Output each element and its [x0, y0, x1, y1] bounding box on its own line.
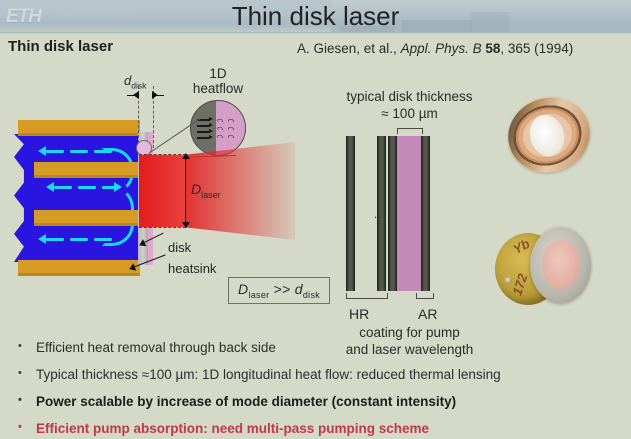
citation-authors: A. Giesen, et al., — [297, 41, 401, 56]
disk-thickness-title-line2: ≈ 100 µm — [322, 105, 497, 122]
heatflow-caption-line1: 1D — [178, 66, 258, 81]
coating-caption-line1: coating for pump — [322, 324, 497, 341]
d-disk-caliper-arrow — [152, 91, 158, 99]
heatsink-fin — [34, 162, 140, 178]
heatsink-label: heatsink — [168, 261, 216, 276]
beam-boundary-dash — [139, 154, 186, 155]
d-disk-caliper-arrow — [133, 91, 139, 99]
inequality-rhs: d — [295, 281, 303, 297]
ar-coating-bar — [421, 136, 430, 291]
heatflow-caption-line2: heatflow — [178, 81, 258, 96]
laser-mode-core — [139, 155, 185, 227]
d-laser-dimension-line — [185, 155, 186, 227]
hr-brace — [346, 293, 388, 299]
heat-flow-arrow — [197, 137, 210, 139]
heatflow-magnifier — [190, 100, 246, 156]
heatsink-fin — [18, 120, 140, 136]
flow-arrow-seg — [46, 150, 64, 153]
inequality-lhs: D — [238, 281, 248, 297]
flow-arrow-seg — [46, 238, 64, 241]
thickness-brace — [397, 128, 423, 134]
d-disk-subscript: disk — [131, 81, 146, 91]
mount-ring — [530, 227, 591, 303]
handwriting-mark: Yb — [510, 236, 532, 257]
inequality-lhs-sub: laser — [248, 290, 269, 300]
ar-brace — [416, 293, 434, 299]
d-laser-arrow-head — [182, 222, 190, 228]
handwriting-mark: 172 — [509, 272, 530, 297]
citation-volume: 58 — [485, 41, 500, 56]
citation-reference: A. Giesen, et al., Appl. Phys. B 58, 365… — [297, 41, 573, 56]
d-laser-symbol: D — [191, 181, 201, 197]
inequality-rhs-sub: disk — [303, 290, 320, 300]
hr-coating-bar — [346, 136, 355, 291]
citation-journal: Appl. Phys. B — [401, 41, 482, 56]
heatflow-caption: 1D heatflow — [178, 66, 258, 96]
beam-boundary-dash — [139, 227, 186, 228]
bullet-item: Power scalable by increase of mode diame… — [10, 394, 625, 409]
d-laser-subscript: laser — [201, 190, 221, 200]
d-laser-label: Dlaser — [191, 181, 221, 200]
flow-arrow-seg — [70, 150, 88, 153]
d-disk-label: ddisk — [124, 73, 146, 91]
inequality-operator: >> — [269, 281, 294, 297]
slide-root: ETH Eidgenössische Technische Hochschule… — [0, 0, 631, 439]
flow-arrow-head — [46, 182, 54, 192]
bullet-item: Typical thickness ≈100 µm: 1D longitudin… — [10, 367, 625, 382]
heatsink-fin — [34, 210, 140, 226]
flow-arrow-seg — [70, 238, 88, 241]
heat-flow-arrow — [197, 125, 210, 127]
page-title: Thin disk laser — [0, 1, 631, 31]
thin-disk-in-brass-mount-photo: Yb 172 — [495, 227, 591, 312]
header-divider — [0, 32, 631, 34]
bullet-item: Efficient pump absorption: need multi-pa… — [10, 421, 625, 436]
mounted-thin-disk — [542, 240, 580, 289]
coating-bar — [388, 136, 397, 291]
inequality-box: Dlaser >> ddisk — [228, 277, 330, 304]
hr-label: HR — [349, 306, 369, 322]
flow-arrow-head — [38, 234, 46, 244]
section-title: Thin disk laser — [8, 38, 113, 55]
thin-disk-on-copper-heatsink-photo — [499, 88, 598, 182]
heatsink-fin — [18, 260, 140, 276]
heat-wave — [217, 133, 239, 138]
heat-wave — [217, 117, 239, 122]
d-laser-arrow-head — [182, 153, 190, 159]
flow-arrow-seg — [54, 186, 72, 189]
heat-flow-arrow — [197, 131, 210, 133]
disk-thickness-diagram: typical disk thickness ≈ 100 µm ... HR A… — [322, 88, 497, 328]
heat-wave — [217, 125, 239, 130]
header-banner: ETH Eidgenössische Technische Hochschule… — [0, 0, 631, 34]
disk-label: disk — [168, 240, 191, 255]
disk-thickness-title-line1: typical disk thickness — [322, 88, 497, 105]
gain-disk-layer — [397, 136, 421, 291]
disk-aperture — [525, 111, 569, 161]
mount-screw — [505, 277, 512, 284]
ellipsis-indicator: ... — [374, 209, 388, 221]
bullet-item: Efficient heat removal through back side — [10, 340, 625, 355]
citation-pages: , 365 (1994) — [500, 41, 573, 56]
disk-layer-stack: ... — [344, 136, 454, 291]
flow-arrow-seg — [78, 186, 96, 189]
bullet-list: Efficient heat removal through back side… — [10, 340, 625, 439]
flow-arrow-head — [38, 146, 46, 156]
ar-label: AR — [418, 306, 437, 322]
